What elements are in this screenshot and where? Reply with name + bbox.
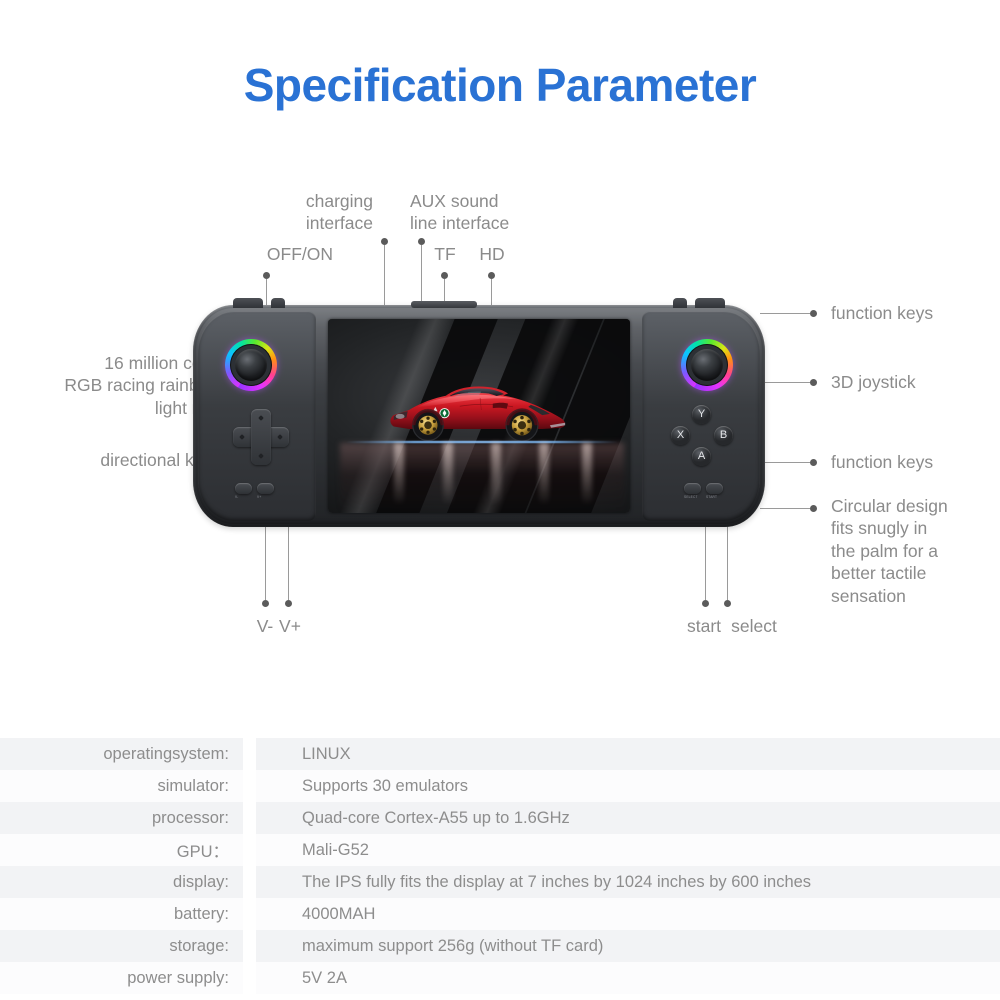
table-row: display: The IPS fully fits the display …	[0, 866, 1000, 898]
callout-directional-keys-label: directional keys	[6, 449, 221, 471]
column-gap	[243, 738, 256, 770]
callout-start-line	[705, 523, 706, 600]
column-gap	[243, 930, 256, 962]
callout-circular-design-label: Circular design fits snugly in the palm …	[831, 495, 996, 607]
button-y[interactable]: Y	[692, 405, 711, 424]
face-button-cluster: Y X B A	[671, 405, 733, 467]
callout-rgb-light-ring-label: 16 million color RGB racing rainbow ligh…	[6, 352, 221, 419]
callout-function-keys-bottom-dot	[810, 459, 817, 466]
table-row: power supply: 5V 2A	[0, 962, 1000, 994]
left-joystick[interactable]	[225, 339, 277, 391]
shoulder-button-r1[interactable]	[695, 298, 725, 308]
callout-volume-up-label: V+	[269, 615, 311, 637]
spec-value: The IPS fully fits the display at 7 inch…	[256, 866, 1000, 898]
right-joystick-cap[interactable]	[691, 349, 723, 381]
spec-label: GPU：	[0, 834, 243, 866]
spec-label: operatingsystem:	[0, 738, 243, 770]
shoulder-button-r2[interactable]	[673, 298, 687, 308]
volume-up-button[interactable]	[257, 483, 274, 494]
callout-start-dot	[702, 600, 709, 607]
spec-value: Mali-G52	[256, 834, 1000, 866]
callout-charging-interface-label: charging interface	[293, 190, 373, 235]
callout-hd-dot	[488, 272, 495, 279]
button-x[interactable]: X	[671, 426, 690, 445]
select-pill-label: SELECT	[684, 495, 698, 499]
table-row: simulator: Supports 30 emulators	[0, 770, 1000, 802]
callout-hd-line	[491, 279, 492, 307]
callout-circular-design-dot	[810, 505, 817, 512]
spec-value: 4000MAH	[256, 898, 1000, 930]
screen-reflection	[394, 443, 404, 505]
screen-reflection	[582, 443, 592, 505]
volume-down-button[interactable]	[235, 483, 252, 494]
select-start-button-pair: SELECT START	[684, 483, 723, 494]
callout-off-on-label: OFF/ON	[243, 243, 333, 265]
screen-floor-line	[346, 441, 618, 443]
callout-3d-joystick-dot	[810, 379, 817, 386]
spec-label: display:	[0, 866, 243, 898]
callout-tf-label: TF	[425, 243, 465, 265]
left-joystick-cap[interactable]	[235, 349, 267, 381]
callout-function-keys-top-line	[760, 313, 810, 314]
column-gap	[243, 866, 256, 898]
spec-value: Supports 30 emulators	[256, 770, 1000, 802]
volume-button-pair: V- V+	[235, 483, 274, 494]
top-edge-port-strip	[411, 301, 477, 308]
callout-select-dot	[724, 600, 731, 607]
callout-aux-sound-label: AUX sound line interface	[410, 190, 550, 235]
callout-3d-joystick-label: 3D joystick	[831, 371, 991, 393]
directional-pad[interactable]	[233, 409, 289, 465]
select-button[interactable]	[684, 483, 701, 494]
callout-function-keys-top-label: function keys	[831, 302, 991, 324]
column-gap	[243, 898, 256, 930]
spec-label: storage:	[0, 930, 243, 962]
spec-value: 5V 2A	[256, 962, 1000, 994]
shoulder-button-l2[interactable]	[271, 298, 285, 308]
spec-label: battery:	[0, 898, 243, 930]
callout-function-keys-top-dot	[810, 310, 817, 317]
callout-aux-dot	[418, 238, 425, 245]
callout-off-on-dot	[263, 272, 270, 279]
callout-select-line	[727, 523, 728, 600]
callout-function-keys-bottom-line	[760, 462, 810, 463]
volume-down-pill-label: V-	[235, 495, 238, 499]
button-a[interactable]: A	[692, 447, 711, 466]
spec-label: simulator:	[0, 770, 243, 802]
spec-label: power supply:	[0, 962, 243, 994]
start-pill-label: START	[706, 495, 717, 499]
start-button[interactable]	[706, 483, 723, 494]
column-gap	[243, 962, 256, 994]
screen-reflection	[539, 443, 549, 505]
specification-table: operatingsystem: LINUX simulator: Suppor…	[0, 738, 1000, 994]
callout-volume-up-dot	[285, 600, 292, 607]
table-row: GPU： Mali-G52	[0, 834, 1000, 866]
column-gap	[243, 834, 256, 866]
spec-label: processor:	[0, 802, 243, 834]
callout-off-on-line	[266, 279, 267, 307]
spec-value: Quad-core Cortex-A55 up to 1.6GHz	[256, 802, 1000, 834]
right-joystick[interactable]	[681, 339, 733, 391]
page-title: Specification Parameter	[0, 58, 1000, 112]
spec-value: LINUX	[256, 738, 1000, 770]
callout-volume-down-line	[265, 523, 266, 600]
callout-tf-dot	[441, 272, 448, 279]
callout-circular-design-line	[760, 508, 810, 509]
product-spec-page: Specification Parameter OFF/ON charging …	[0, 0, 1000, 1000]
callout-3d-joystick-line	[760, 382, 810, 383]
screen-reflection	[491, 443, 501, 505]
handheld-game-console: Y X B A V- V+ SELECT START	[193, 305, 765, 527]
callout-function-keys-bottom-label: function keys	[831, 451, 991, 473]
shoulder-button-l1[interactable]	[233, 298, 263, 308]
table-row: storage: maximum support 256g (without T…	[0, 930, 1000, 962]
column-gap	[243, 770, 256, 802]
table-row: battery: 4000MAH	[0, 898, 1000, 930]
callout-charging-dot	[381, 238, 388, 245]
callout-charging-line	[384, 245, 385, 307]
table-row: processor: Quad-core Cortex-A55 up to 1.…	[0, 802, 1000, 834]
callout-select-label: select	[723, 615, 785, 637]
console-screen	[328, 319, 630, 513]
callout-volume-up-line	[288, 523, 289, 600]
table-row: operatingsystem: LINUX	[0, 738, 1000, 770]
volume-up-pill-label: V+	[257, 495, 261, 499]
callout-aux-line	[421, 245, 422, 307]
column-gap	[243, 802, 256, 834]
callout-volume-down-dot	[262, 600, 269, 607]
screen-reflection	[443, 443, 453, 505]
red-sports-car-image	[355, 377, 603, 447]
callout-hd-label: HD	[472, 243, 512, 265]
spec-value: maximum support 256g (without TF card)	[256, 930, 1000, 962]
button-b[interactable]: B	[714, 426, 733, 445]
